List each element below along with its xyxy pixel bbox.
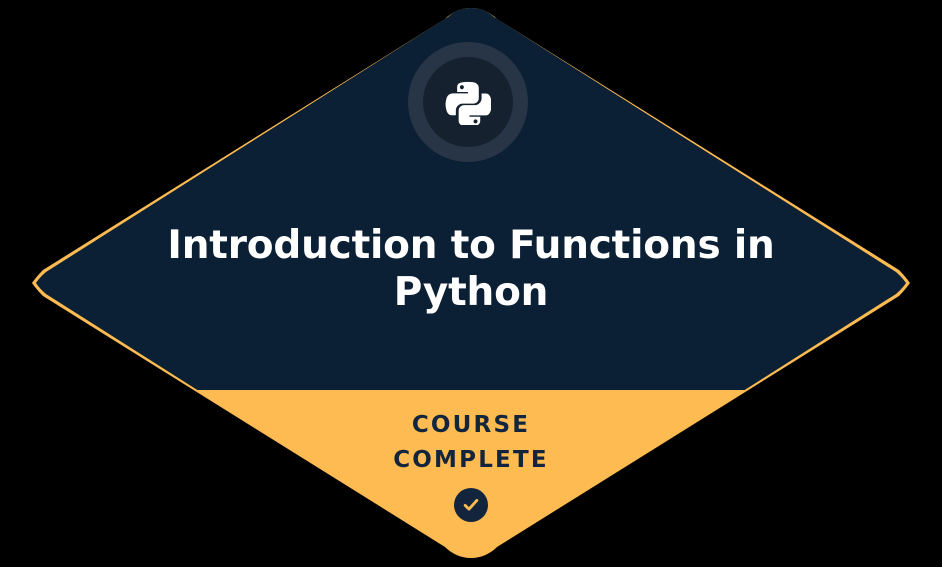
completion-footer: COURSE COMPLETE	[171, 408, 771, 522]
python-logo-emblem	[408, 42, 528, 162]
status-badge: COURSE COMPLETE	[171, 408, 771, 478]
badge-canvas: Introduction to Functions in Python COUR…	[0, 0, 942, 567]
check-circle-icon	[454, 488, 488, 522]
course-title: Introduction to Functions in Python	[121, 222, 821, 316]
python-logo-icon	[445, 79, 491, 125]
